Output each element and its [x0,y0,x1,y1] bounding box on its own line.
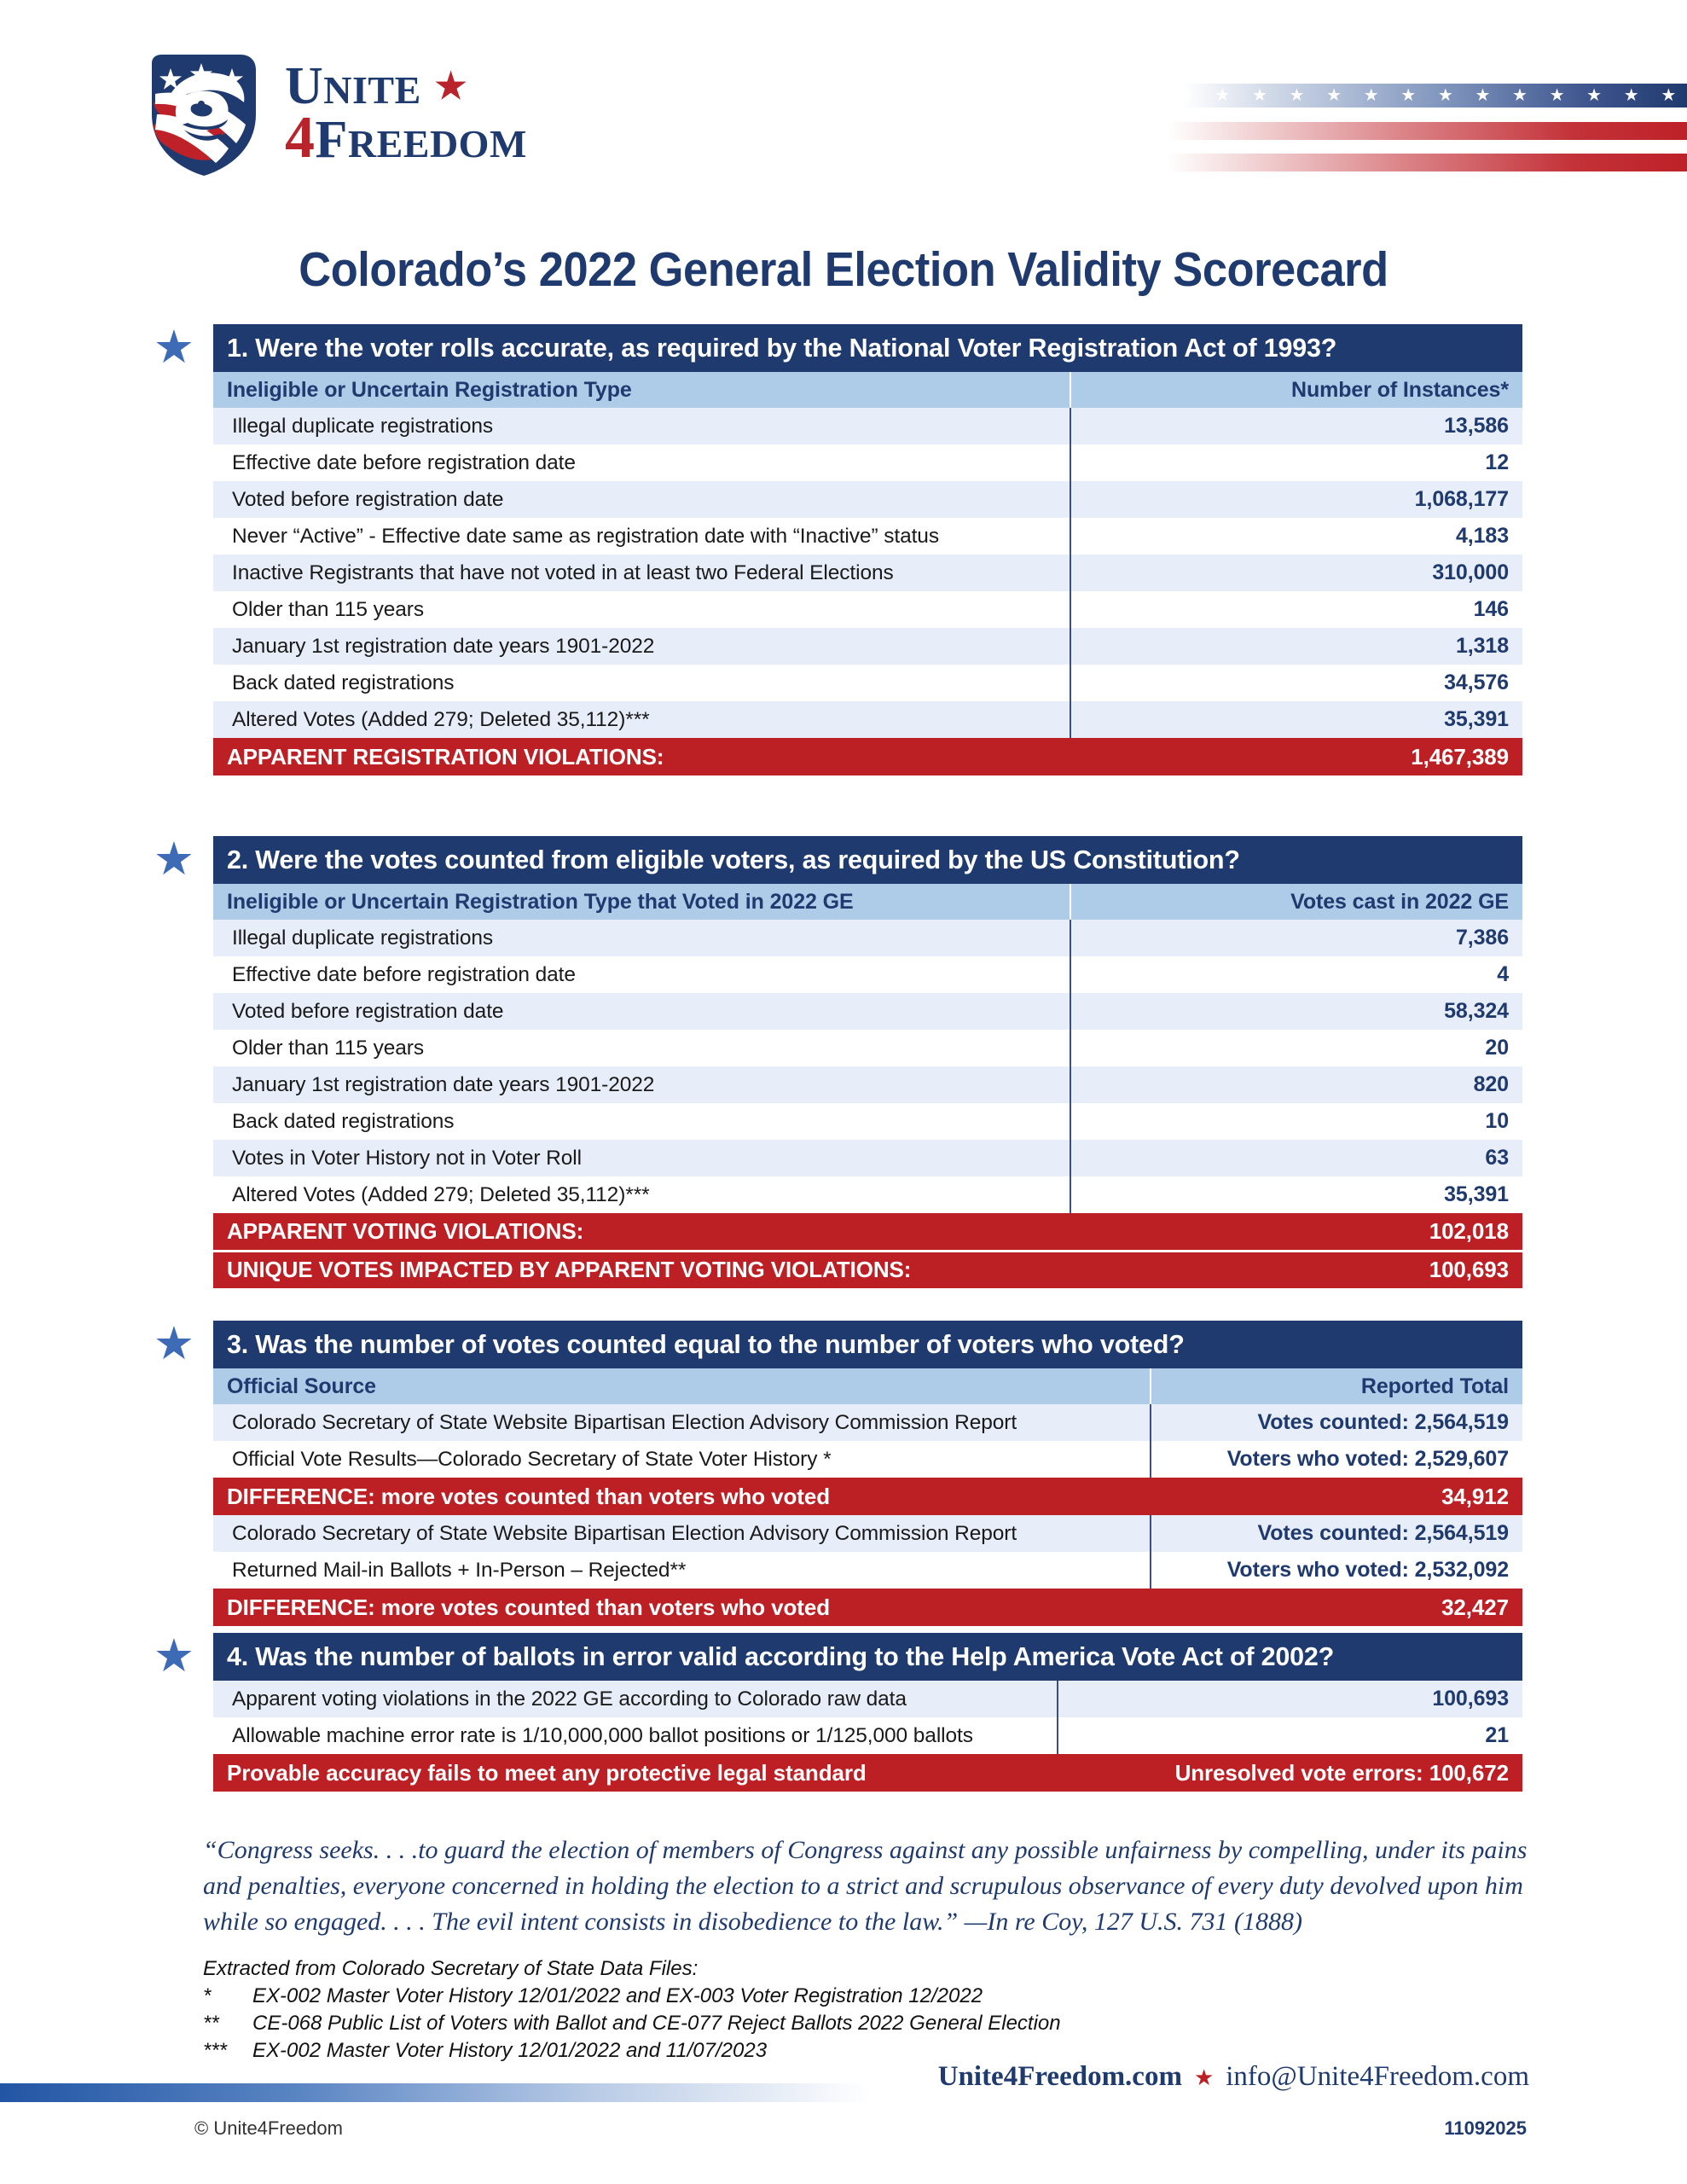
footnote-marker: * [203,1983,252,2010]
flag-red-stripe-2 [1167,154,1687,171]
row-value: Voters who voted: 2,529,607 [1151,1441,1522,1478]
row-value: 34,576 [1070,665,1522,701]
flag-star-icon: ★ [1464,87,1502,104]
table-row: Colorado Secretary of State Website Bipa… [213,1515,1522,1552]
row-label: Colorado Secretary of State Website Bipa… [213,1404,1151,1441]
row-value: 21 [1058,1717,1522,1754]
footnote-text: CE-068 Public List of Voters with Ballot… [252,2012,1061,2035]
row-label: Apparent voting violations in the 2022 G… [213,1681,1058,1717]
row-label: January 1st registration date years 1901… [213,628,1070,665]
row-value: 32,427 [1151,1589,1522,1626]
table-row: Allowable machine error rate is 1/10,000… [213,1717,1522,1754]
unite4freedom-logo: UNITE ★ 4FREEDOM [145,51,527,177]
logo-star-icon: ★ [435,67,467,107]
row-label: Colorado Secretary of State Website Bipa… [213,1515,1151,1552]
logo-unite-rest: NITE [323,68,420,112]
footer-links: Unite4Freedom.com★info@Unite4Freedom.com [938,2061,1529,2093]
flag-red-stripe-1 [1167,122,1687,140]
row-label: Voted before registration date [213,481,1070,518]
row-value: 35,391 [1070,701,1522,738]
page-title: Colorado’s 2022 General Election Validit… [67,241,1620,298]
column-header-value: Votes cast in 2022 GE [1070,884,1522,920]
flag-star-icon: ★ [1204,87,1242,104]
table-row: Effective date before registration date4 [213,956,1522,993]
row-value: 4 [1070,956,1522,993]
table-total-row: DIFFERENCE: more votes counted than vote… [213,1589,1522,1626]
footnote-marker: ** [203,2010,252,2037]
flag-star-icon: ★ [1389,87,1427,104]
total-label: UNIQUE VOTES IMPACTED BY APPARENT VOTING… [213,1251,1070,1288]
row-label: Returned Mail-in Ballots + In-Person – R… [213,1552,1151,1589]
flag-star-icon: ★ [1650,87,1687,104]
section-heading: 4. Was the number of ballots in error va… [213,1633,1522,1681]
table-row: Returned Mail-in Ballots + In-Person – R… [213,1552,1522,1589]
row-label: Never “Active” - Effective date same as … [213,518,1070,555]
table-row: Older than 115 years20 [213,1030,1522,1066]
section-star-icon: ★ [152,328,196,372]
column-header-label: Ineligible or Uncertain Registration Typ… [213,372,1070,408]
row-value: 20 [1070,1030,1522,1066]
flag-star-icon: ★ [1575,87,1613,104]
legal-quote: “Congress seeks. . . .to guard the elect… [203,1833,1533,1940]
table-total-row: UNIQUE VOTES IMPACTED BY APPARENT VOTING… [213,1251,1522,1288]
table-row: Apparent voting violations in the 2022 G… [213,1681,1522,1717]
footnote-item: *EX-002 Master Voter History 12/01/2022 … [203,1983,1397,2010]
footer-doc-code: 11092025 [1444,2117,1527,2140]
row-value: 58,324 [1070,993,1522,1030]
logo-line-freedom: 4FREEDOM [285,111,527,166]
section-4: ★4. Was the number of ballots in error v… [213,1633,1522,1792]
row-label: Illegal duplicate registrations [213,408,1070,444]
section-table: Ineligible or Uncertain Registration Typ… [213,884,1522,1288]
section-heading: 1. Were the voter rolls accurate, as req… [213,324,1522,372]
row-label: DIFFERENCE: more votes counted than vote… [213,1478,1151,1515]
table-row: Illegal duplicate registrations13,586 [213,408,1522,444]
column-header-label: Ineligible or Uncertain Registration Typ… [213,884,1070,920]
total-value: 100,693 [1070,1251,1522,1288]
table-row: Colorado Secretary of State Website Bipa… [213,1404,1522,1441]
section-star-icon: ★ [152,839,196,884]
flag-star-icon: ★ [1315,87,1353,104]
row-value: 310,000 [1070,555,1522,591]
flag-star-icon: ★ [1167,87,1204,104]
masthead: UNITE ★ 4FREEDOM ★★★★★★★★★★★★★★ [0,41,1687,212]
row-label: Older than 115 years [213,591,1070,628]
table-row: Official Vote Results—Colorado Secretary… [213,1441,1522,1478]
footer-email-link[interactable]: info@Unite4Freedom.com [1226,2061,1529,2092]
logo-wordmark: UNITE ★ 4FREEDOM [285,62,527,166]
table-row: Older than 115 years146 [213,591,1522,628]
section-heading: 2. Were the votes counted from eligible … [213,836,1522,884]
logo-freedom-cap: F [316,111,348,169]
row-label: Effective date before registration date [213,444,1070,481]
table-total-row: APPARENT VOTING VIOLATIONS:102,018 [213,1213,1522,1251]
flag-star-icon: ★ [1353,87,1390,104]
footer-copyright: © Unite4Freedom [194,2117,343,2140]
table-row: Inactive Registrants that have not voted… [213,555,1522,591]
row-label: Back dated registrations [213,665,1070,701]
flag-star-icon: ★ [1501,87,1539,104]
row-label: Allowable machine error rate is 1/10,000… [213,1717,1058,1754]
logo-line-unite: UNITE ★ [285,62,527,111]
row-value: 100,693 [1058,1681,1522,1717]
footer-gradient-bar [0,2083,870,2102]
row-label: Altered Votes (Added 279; Deleted 35,112… [213,1176,1070,1213]
table-header-row: Ineligible or Uncertain Registration Typ… [213,884,1522,920]
row-value: 1,318 [1070,628,1522,665]
footer-website-link[interactable]: Unite4Freedom.com [938,2061,1182,2092]
table-total-row: Provable accuracy fails to meet any prot… [213,1754,1522,1792]
table-row: Illegal duplicate registrations7,386 [213,920,1522,956]
row-label: Back dated registrations [213,1103,1070,1140]
table-header-row: Ineligible or Uncertain Registration Typ… [213,372,1522,408]
row-value: 10 [1070,1103,1522,1140]
table-total-row: APPARENT REGISTRATION VIOLATIONS:1,467,3… [213,738,1522,775]
row-label: Voted before registration date [213,993,1070,1030]
section-table: Official SourceReported TotalColorado Se… [213,1368,1522,1626]
flag-banner-graphic: ★★★★★★★★★★★★★★ [1167,84,1687,173]
row-value: 1,068,177 [1070,481,1522,518]
footnote-text: EX-002 Master Voter History 12/01/2022 a… [252,1984,983,2007]
table-total-row: DIFFERENCE: more votes counted than vote… [213,1478,1522,1515]
table-row: Voted before registration date1,068,177 [213,481,1522,518]
footnote-item: **CE-068 Public List of Voters with Ball… [203,2010,1397,2037]
section-heading: 3. Was the number of votes counted equal… [213,1321,1522,1368]
row-label: Older than 115 years [213,1030,1070,1066]
row-value: 35,391 [1070,1176,1522,1213]
total-value: 102,018 [1070,1213,1522,1251]
total-label: APPARENT VOTING VIOLATIONS: [213,1213,1070,1251]
row-label: Official Vote Results—Colorado Secretary… [213,1441,1151,1478]
column-header-label: Official Source [213,1368,1151,1404]
table-row: January 1st registration date years 1901… [213,1066,1522,1103]
footer-star-icon: ★ [1194,2065,1214,2090]
row-value: 7,386 [1070,920,1522,956]
flag-star-icon: ★ [1241,87,1278,104]
row-value: 63 [1070,1140,1522,1176]
row-value: 12 [1070,444,1522,481]
row-label: Inactive Registrants that have not voted… [213,555,1070,591]
row-label: Effective date before registration date [213,956,1070,993]
table-row: Votes in Voter History not in Voter Roll… [213,1140,1522,1176]
section-2: ★2. Were the votes counted from eligible… [213,836,1522,1288]
row-value: Votes counted: 2,564,519 [1151,1515,1522,1552]
total-label: Provable accuracy fails to meet any prot… [213,1754,1058,1792]
column-header-value: Number of Instances* [1070,372,1522,408]
table-row: Never “Active” - Effective date same as … [213,518,1522,555]
row-label: Altered Votes (Added 279; Deleted 35,112… [213,701,1070,738]
eagle-shield-icon [145,51,264,177]
flag-star-icon: ★ [1427,87,1464,104]
flag-star-icon: ★ [1278,87,1316,104]
flag-star-stripe: ★★★★★★★★★★★★★★ [1167,84,1687,107]
table-header-row: Official SourceReported Total [213,1368,1522,1404]
scorecard-page: UNITE ★ 4FREEDOM ★★★★★★★★★★★★★★ Colorado… [0,0,1687,2184]
section-star-icon: ★ [152,1324,196,1368]
row-label: DIFFERENCE: more votes counted than vote… [213,1589,1151,1626]
section-star-icon: ★ [152,1636,196,1681]
row-value: 34,912 [1151,1478,1522,1515]
row-value: Voters who voted: 2,532,092 [1151,1552,1522,1589]
flag-star-icon: ★ [1613,87,1650,104]
flag-star-icon: ★ [1539,87,1576,104]
row-label: Illegal duplicate registrations [213,920,1070,956]
table-row: Back dated registrations34,576 [213,665,1522,701]
section-3: ★3. Was the number of votes counted equa… [213,1321,1522,1626]
total-value: 1,467,389 [1070,738,1522,775]
row-value: 146 [1070,591,1522,628]
table-row: January 1st registration date years 1901… [213,628,1522,665]
section-table: Ineligible or Uncertain Registration Typ… [213,372,1522,775]
row-value: Votes counted: 2,564,519 [1151,1404,1522,1441]
footnote-text: EX-002 Master Voter History 12/01/2022 a… [252,2039,767,2062]
table-row: Back dated registrations10 [213,1103,1522,1140]
row-label: Votes in Voter History not in Voter Roll [213,1140,1070,1176]
logo-numeral-four: 4 [285,105,316,171]
row-value: 13,586 [1070,408,1522,444]
logo-freedom-rest: REEDOM [348,122,527,166]
total-label: APPARENT REGISTRATION VIOLATIONS: [213,738,1070,775]
footnotes: Extracted from Colorado Secretary of Sta… [203,1955,1397,2065]
column-header-value: Reported Total [1151,1368,1522,1404]
table-row: Altered Votes (Added 279; Deleted 35,112… [213,1176,1522,1213]
row-value: 4,183 [1070,518,1522,555]
section-table: Apparent voting violations in the 2022 G… [213,1681,1522,1792]
row-label: January 1st registration date years 1901… [213,1066,1070,1103]
table-row: Effective date before registration date1… [213,444,1522,481]
table-row: Altered Votes (Added 279; Deleted 35,112… [213,701,1522,738]
footnote-intro: Extracted from Colorado Secretary of Sta… [203,1955,1397,1983]
footnote-marker: *** [203,2037,252,2065]
section-1: ★1. Were the voter rolls accurate, as re… [213,324,1522,775]
total-value: Unresolved vote errors: 100,672 [1058,1754,1522,1792]
row-value: 820 [1070,1066,1522,1103]
table-row: Voted before registration date58,324 [213,993,1522,1030]
